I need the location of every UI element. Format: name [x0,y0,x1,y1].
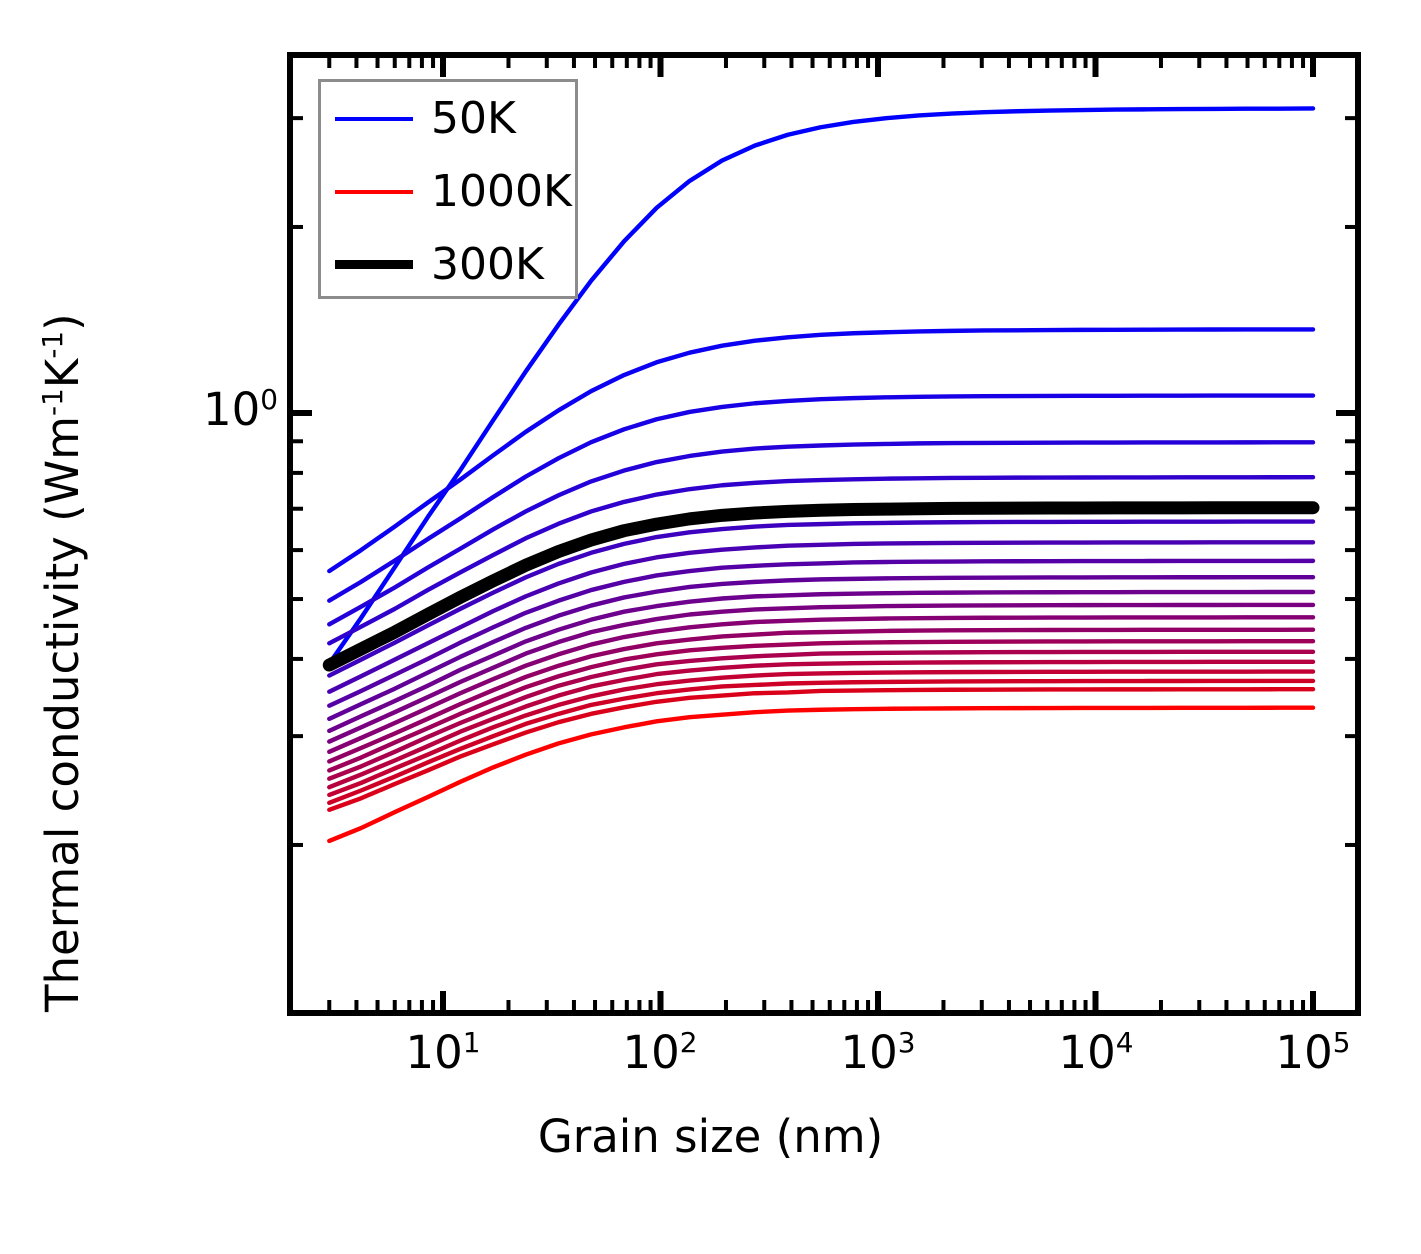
legend-swatch-50k [335,117,413,121]
legend-entry-50k: 50K [321,82,575,155]
xtick-label-1: 101 [343,1026,543,1079]
legend-swatch-300k [335,260,413,269]
xtick-label-3: 103 [778,1026,978,1079]
x-axis-title: Grain size (nm) [0,1110,1421,1163]
xtick-label-2: 102 [560,1026,760,1079]
legend-label-1000k: 1000K [431,170,572,214]
curve-97.5k [329,329,1313,571]
curve-145k [329,396,1313,601]
y-axis-title: Thermal conductivity (Wm-1K-1) [36,313,89,1012]
legend: 50K 1000K 300K [318,79,578,299]
ytick-label-1: 100 [78,383,278,436]
legend-entry-1000k: 1000K [321,155,575,228]
legend-label-50k: 50K [431,97,516,141]
legend-swatch-1000k [335,190,413,194]
curve-1000k [329,708,1313,841]
legend-entry-300k: 300K [321,228,575,301]
xtick-label-4: 104 [996,1026,1196,1079]
xtick-label-5: 105 [1213,1026,1413,1079]
thermal-conductivity-figure: 101 102 103 104 105 100 Thermal conducti… [0,0,1421,1254]
legend-label-300k: 300K [431,243,544,287]
